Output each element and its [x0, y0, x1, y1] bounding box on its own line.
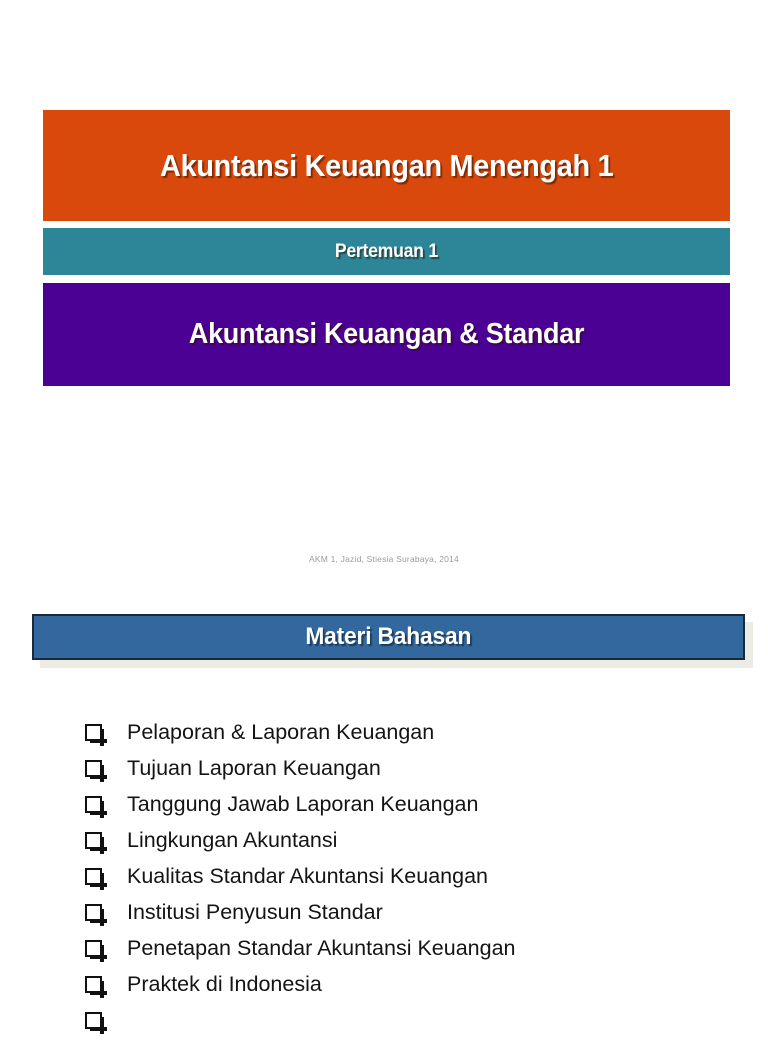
slide-footer-credit: AKM 1, Jazid, Stiesia Surabaya, 2014: [0, 554, 768, 564]
list-item-label: Kualitas Standar Akuntansi Keuangan: [127, 862, 488, 890]
list-item-label: Lingkungan Akuntansi: [127, 826, 337, 854]
list-item-label: Praktek di Indonesia: [127, 970, 322, 998]
agenda-header-bar: Materi Bahasan: [32, 614, 745, 660]
list-item: Praktek di Indonesia: [0, 970, 768, 1006]
list-item: Penetapan Standar Akuntansi Keuangan: [0, 934, 768, 970]
empty-checkbox-icon: [85, 760, 102, 777]
meeting-text: Pertemuan 1: [335, 241, 438, 263]
title-slide: Akuntansi Keuangan Menengah 1 Pertemuan …: [0, 0, 768, 600]
list-item: Kualitas Standar Akuntansi Keuangan: [0, 862, 768, 898]
list-item: Tujuan Laporan Keuangan: [0, 754, 768, 790]
list-item-label: Tanggung Jawab Laporan Keuangan: [127, 790, 478, 818]
topic-text: Akuntansi Keuangan & Standar: [189, 318, 584, 351]
list-item-label: Tujuan Laporan Keuangan: [127, 754, 381, 782]
empty-checkbox-icon: [85, 724, 102, 741]
empty-checkbox-icon: [85, 796, 102, 813]
list-item-label: Pelaporan & Laporan Keuangan: [127, 718, 434, 746]
course-title-text: Akuntansi Keuangan Menengah 1: [160, 148, 613, 184]
agenda-slide: Materi Bahasan Pelaporan & Laporan Keuan…: [0, 600, 768, 1024]
empty-checkbox-icon: [85, 940, 102, 957]
course-title-bar: Akuntansi Keuangan Menengah 1: [43, 110, 730, 221]
empty-checkbox-icon: [85, 832, 102, 849]
empty-checkbox-icon: [85, 1012, 102, 1029]
agenda-header-wrapper: Materi Bahasan: [32, 614, 745, 660]
meeting-bar: Pertemuan 1: [43, 228, 730, 275]
list-item: Tanggung Jawab Laporan Keuangan: [0, 790, 768, 826]
list-item-clipped: [0, 1006, 768, 1042]
empty-checkbox-icon: [85, 904, 102, 921]
list-item: Institusi Penyusun Standar: [0, 898, 768, 934]
list-item: Pelaporan & Laporan Keuangan: [0, 718, 768, 754]
empty-checkbox-icon: [85, 868, 102, 885]
agenda-list: Pelaporan & Laporan Keuangan Tujuan Lapo…: [0, 718, 768, 1042]
empty-checkbox-icon: [85, 976, 102, 993]
list-item: Lingkungan Akuntansi: [0, 826, 768, 862]
list-item-label: Institusi Penyusun Standar: [127, 898, 383, 926]
topic-bar: Akuntansi Keuangan & Standar: [43, 283, 730, 386]
agenda-header-text: Materi Bahasan: [306, 623, 472, 651]
list-item-label: Penetapan Standar Akuntansi Keuangan: [127, 934, 516, 962]
